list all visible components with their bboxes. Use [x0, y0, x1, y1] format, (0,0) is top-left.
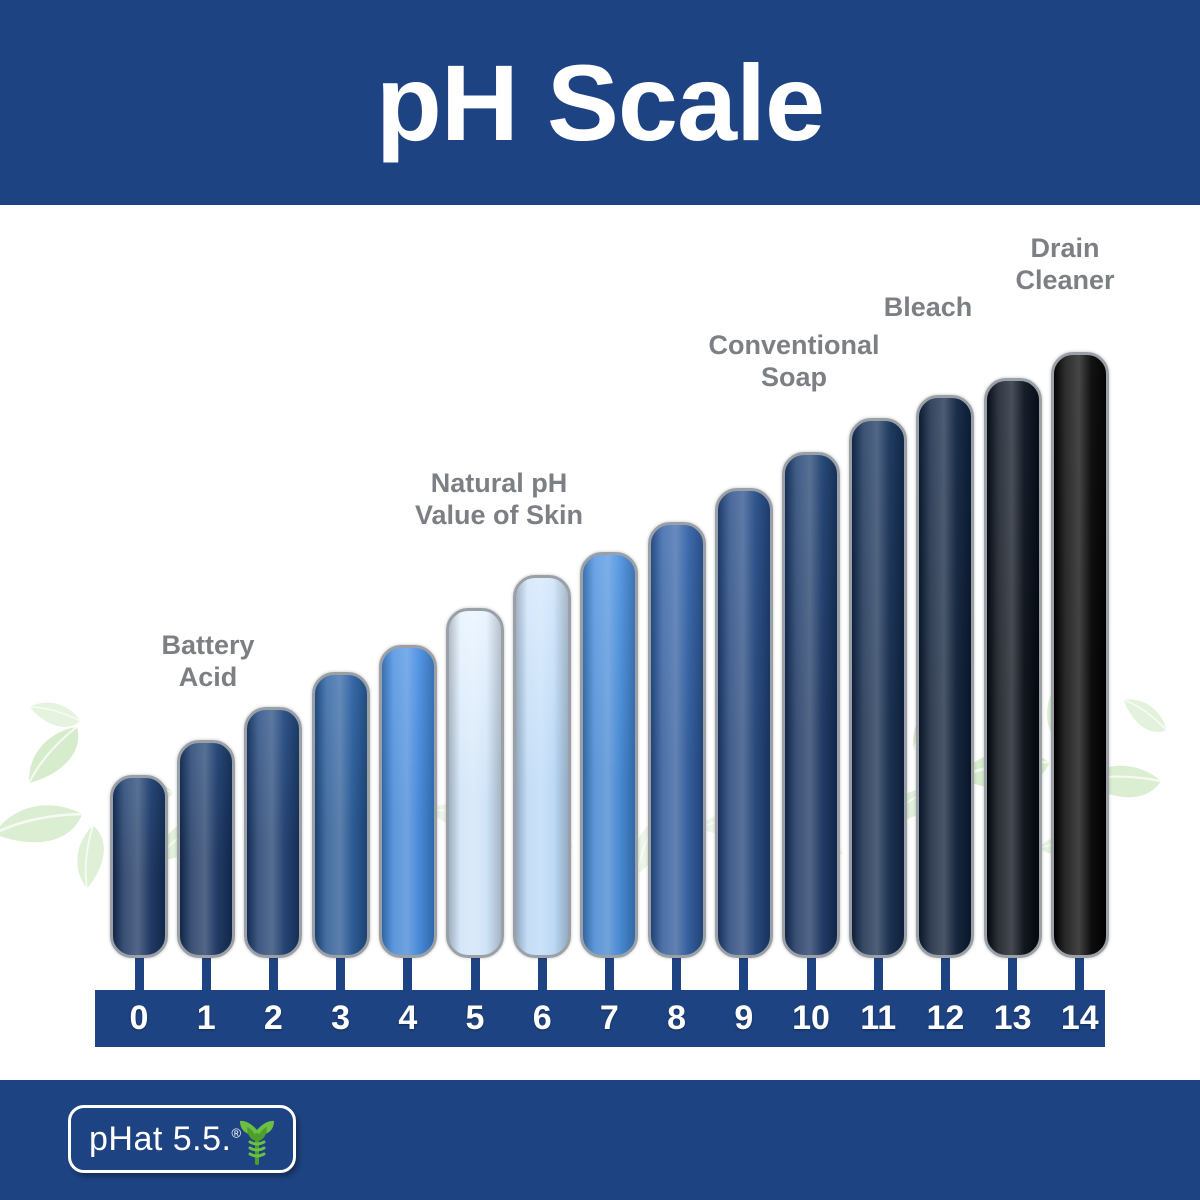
callout-label-layer: Battery AcidNatural pH Value of SkinConv…: [0, 0, 1200, 1200]
infographic-root: pH Scale 01234567891011121314 Battery Ac…: [0, 0, 1200, 1200]
callout-drain-cleaner: Drain Cleaner: [985, 233, 1145, 297]
brand-logo-text: pHat 5.5.®: [89, 1120, 242, 1159]
callout-bleach: Bleach: [848, 292, 1008, 324]
green-caduceus-plant-icon: [235, 1116, 279, 1168]
callout-battery-acid: Battery Acid: [118, 630, 298, 694]
brand-logo[interactable]: pHat 5.5.®: [68, 1105, 296, 1173]
callout-natural-ph-skin: Natural pH Value of Skin: [374, 468, 624, 532]
callout-conventional-soap: Conventional Soap: [676, 330, 912, 394]
